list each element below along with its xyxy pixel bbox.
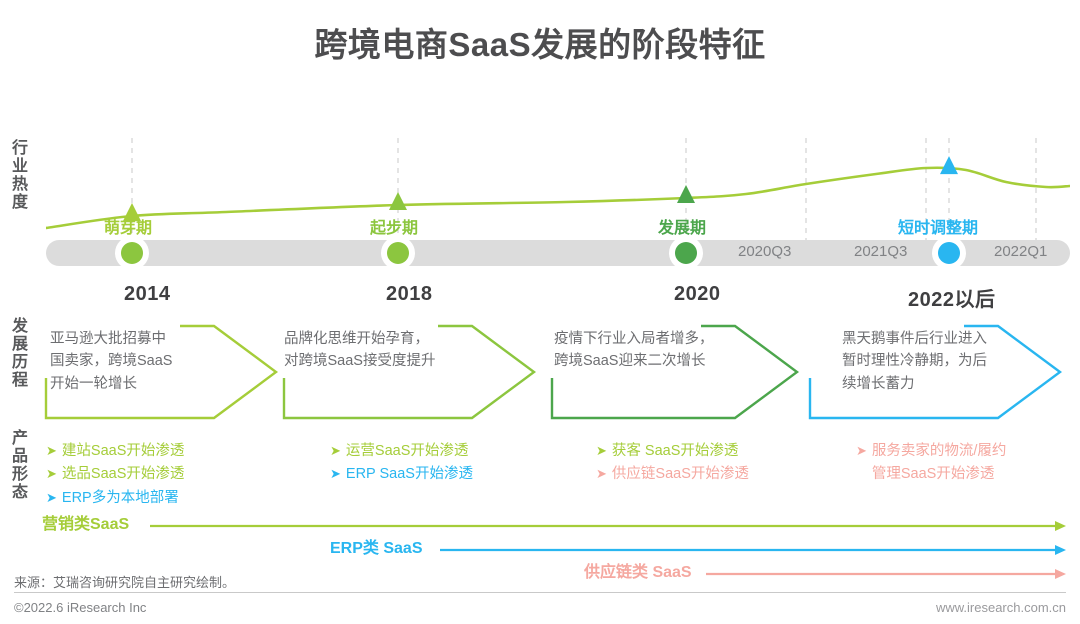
chevron-right-icon: ➤	[46, 466, 57, 481]
product-bullet-item: ➤ERP多为本地部署	[46, 487, 184, 510]
chevron-right-icon: ➤	[330, 466, 341, 481]
year-label-2014: 2014	[124, 283, 171, 306]
phase-label-2018: 起步期	[370, 214, 418, 238]
product-bullet-label: 运营SaaS开始渗透	[346, 443, 468, 459]
arrow-head-icon	[1055, 521, 1066, 531]
year-label-2020: 2020	[674, 283, 721, 306]
arrow-head-icon	[1055, 545, 1066, 555]
footer-divider	[14, 592, 1066, 593]
history-arrow-text: 黑天鹅事件后行业进入 暂时理性冷静期，为后 续增长蓄力	[842, 328, 987, 395]
timeline-dot-fill	[675, 242, 697, 264]
chevron-right-icon: ➤	[46, 490, 57, 505]
timeline-dot	[115, 236, 149, 270]
infographic-page: 跨境电商SaaS发展的阶段特征 行业热度 发展历程 产品形态 萌芽期起步期发展期…	[0, 0, 1080, 624]
product-bullet-item: 管理SaaS开始渗透	[856, 463, 1006, 486]
timeline-dot-fill	[938, 242, 960, 264]
category-line-row: ERP类 SaaS	[0, 534, 1080, 556]
category-label: ERP类 SaaS	[330, 534, 423, 558]
product-bullet-label: ERP多为本地部署	[62, 490, 179, 506]
product-bullet-column: ➤服务卖家的物流/履约 管理SaaS开始渗透	[856, 440, 1006, 487]
chevron-right-icon: ➤	[856, 443, 867, 458]
product-bullet-label: 管理SaaS开始渗透	[872, 466, 994, 482]
category-line-wrap	[706, 567, 1066, 586]
chevron-right-icon: ➤	[596, 443, 607, 458]
year-label-2018: 2018	[386, 283, 433, 306]
website-text: www.iresearch.com.cn	[936, 600, 1066, 615]
phase-marker-triangle	[389, 192, 407, 210]
product-bullet-item: ➤建站SaaS开始渗透	[46, 440, 184, 463]
phase-label-2014: 萌芽期	[104, 214, 152, 238]
product-bullet-column: ➤获客 SaaS开始渗透➤供应链SaaS开始渗透	[596, 440, 749, 487]
arrow-head-icon	[1055, 569, 1066, 579]
product-bullet-item: ➤服务卖家的物流/履约	[856, 440, 1006, 463]
phase-label-2020: 发展期	[658, 214, 706, 238]
chevron-right-icon: ➤	[330, 443, 341, 458]
phase-marker-triangle	[677, 185, 695, 203]
product-bullet-label: ERP SaaS开始渗透	[346, 466, 473, 482]
category-label: 供应链类 SaaS	[584, 558, 692, 582]
product-bullet-label: 获客 SaaS开始渗透	[612, 443, 739, 459]
source-note: 来源：艾瑞咨询研究院自主研究绘制。	[14, 572, 235, 591]
category-label: 营销类SaaS	[42, 510, 129, 534]
product-bullet-item: ➤运营SaaS开始渗透	[330, 440, 473, 463]
chevron-right-icon	[856, 466, 867, 481]
product-bullet-item: ➤选品SaaS开始渗透	[46, 463, 184, 486]
product-bullet-label: 选品SaaS开始渗透	[62, 466, 184, 482]
timeline-quarter-label: 2022Q1	[994, 243, 1047, 260]
category-line-row: 营销类SaaS	[0, 510, 1080, 532]
row-label-history: 发展历程	[8, 318, 32, 390]
timeline-quarter-label: 2021Q3	[854, 243, 907, 260]
product-bullet-item: ➤ERP SaaS开始渗透	[330, 463, 473, 486]
history-arrow-text: 疫情下行业入局者增多， 跨境SaaS迎来二次增长	[554, 328, 714, 373]
chevron-right-icon: ➤	[596, 466, 607, 481]
row-label-heat: 行业热度	[8, 140, 32, 212]
chevron-right-icon: ➤	[46, 443, 57, 458]
timeline-dot-fill	[121, 242, 143, 264]
copyright-text: ©2022.6 iResearch Inc	[14, 600, 146, 615]
history-arrow-text: 品牌化思维开始孕育， 对跨境SaaS接受度提升	[284, 328, 435, 373]
timeline-dot-fill	[387, 242, 409, 264]
phase-label-2022以后: 短时调整期	[898, 214, 978, 238]
product-bullet-item: ➤供应链SaaS开始渗透	[596, 463, 749, 486]
product-bullet-item: ➤获客 SaaS开始渗透	[596, 440, 749, 463]
row-label-product: 产品形态	[8, 430, 32, 502]
year-label-2022以后: 2022以后	[908, 283, 996, 312]
timeline-bar: 2020Q32021Q32022Q1	[46, 240, 1070, 266]
product-bullet-column: ➤运营SaaS开始渗透➤ERP SaaS开始渗透	[330, 440, 473, 487]
product-bullet-label: 供应链SaaS开始渗透	[612, 466, 749, 482]
product-bullet-column: ➤建站SaaS开始渗透➤选品SaaS开始渗透➤ERP多为本地部署	[46, 440, 184, 510]
page-title: 跨境电商SaaS发展的阶段特征	[0, 18, 1080, 66]
timeline-dot	[381, 236, 415, 270]
product-bullet-label: 建站SaaS开始渗透	[62, 443, 184, 459]
timeline-dot	[669, 236, 703, 270]
timeline-quarter-label: 2020Q3	[738, 243, 791, 260]
product-bullet-label: 服务卖家的物流/履约	[872, 443, 1007, 459]
timeline-dot	[932, 236, 966, 270]
phase-marker-triangle	[940, 156, 958, 174]
history-arrow-text: 亚马逊大批招募中 国卖家，跨境SaaS 开始一轮增长	[50, 328, 172, 395]
